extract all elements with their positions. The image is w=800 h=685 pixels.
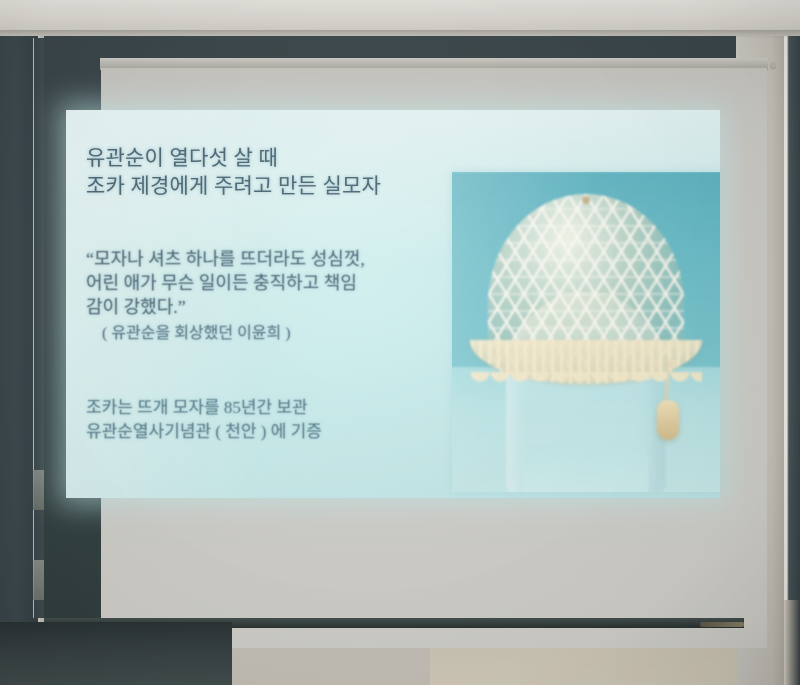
slide-footnote: 조카는 뜨개 모자를 85년간 보관 유관순열사기념관 ( 천안 ) 에 기증 (86, 396, 466, 444)
right-blackboard-panel-bottom (784, 600, 800, 685)
wall-hook-icon (770, 62, 776, 68)
slide-headline-line-2: 조카 제경에게 주려고 만든 실모자 (86, 172, 466, 200)
mannequin-neck (524, 444, 648, 492)
foreground-desk-left (0, 622, 232, 685)
crochet-cap-crown-knot (582, 196, 590, 204)
right-blackboard-panel (784, 20, 800, 620)
slide-headline-line-1: 유관순이 열다섯 살 때 (86, 144, 466, 172)
slide-text-column: 유관순이 열다섯 살 때 조카 제경에게 주려고 만든 실모자 “모자나 셔츠 … (86, 144, 466, 445)
tassel-knob (657, 400, 679, 440)
slide-quote-line-3: 감이 강했다.” (86, 296, 466, 320)
classroom-photo-scene: 유관순이 열다섯 살 때 조카 제경에게 주려고 만든 실모자 “모자나 셔츠 … (0, 0, 800, 685)
slide-footnote-line-2: 유관순열사기념관 ( 천안 ) 에 기증 (86, 420, 466, 444)
slide-footnote-line-1: 조카는 뜨개 모자를 85년간 보관 (86, 396, 466, 420)
projection-screen-pull-rod[interactable] (700, 622, 744, 627)
slide-quote-attribution: ( 유관순을 회상했던 이윤희 ) (102, 324, 466, 345)
slide-headline: 유관순이 열다섯 살 때 조카 제경에게 주려고 만든 실모자 (86, 144, 466, 200)
slide-quote-line-2: 어린 애가 무슨 일이든 충직하고 책임 (86, 272, 466, 296)
slide-quote-line-1: “모자나 셔츠 하나를 뜨더라도 성심껏, (86, 248, 466, 272)
projected-slide: 유관순이 열다섯 살 때 조카 제경에게 주려고 만든 실모자 “모자나 셔츠 … (66, 110, 720, 498)
ceiling-shadow (0, 30, 800, 38)
slide-photo-knitted-cap (452, 172, 720, 492)
slide-quote: “모자나 셔츠 하나를 뜨더라도 성심껏, 어린 애가 무슨 일이든 충직하고 … (86, 248, 466, 319)
